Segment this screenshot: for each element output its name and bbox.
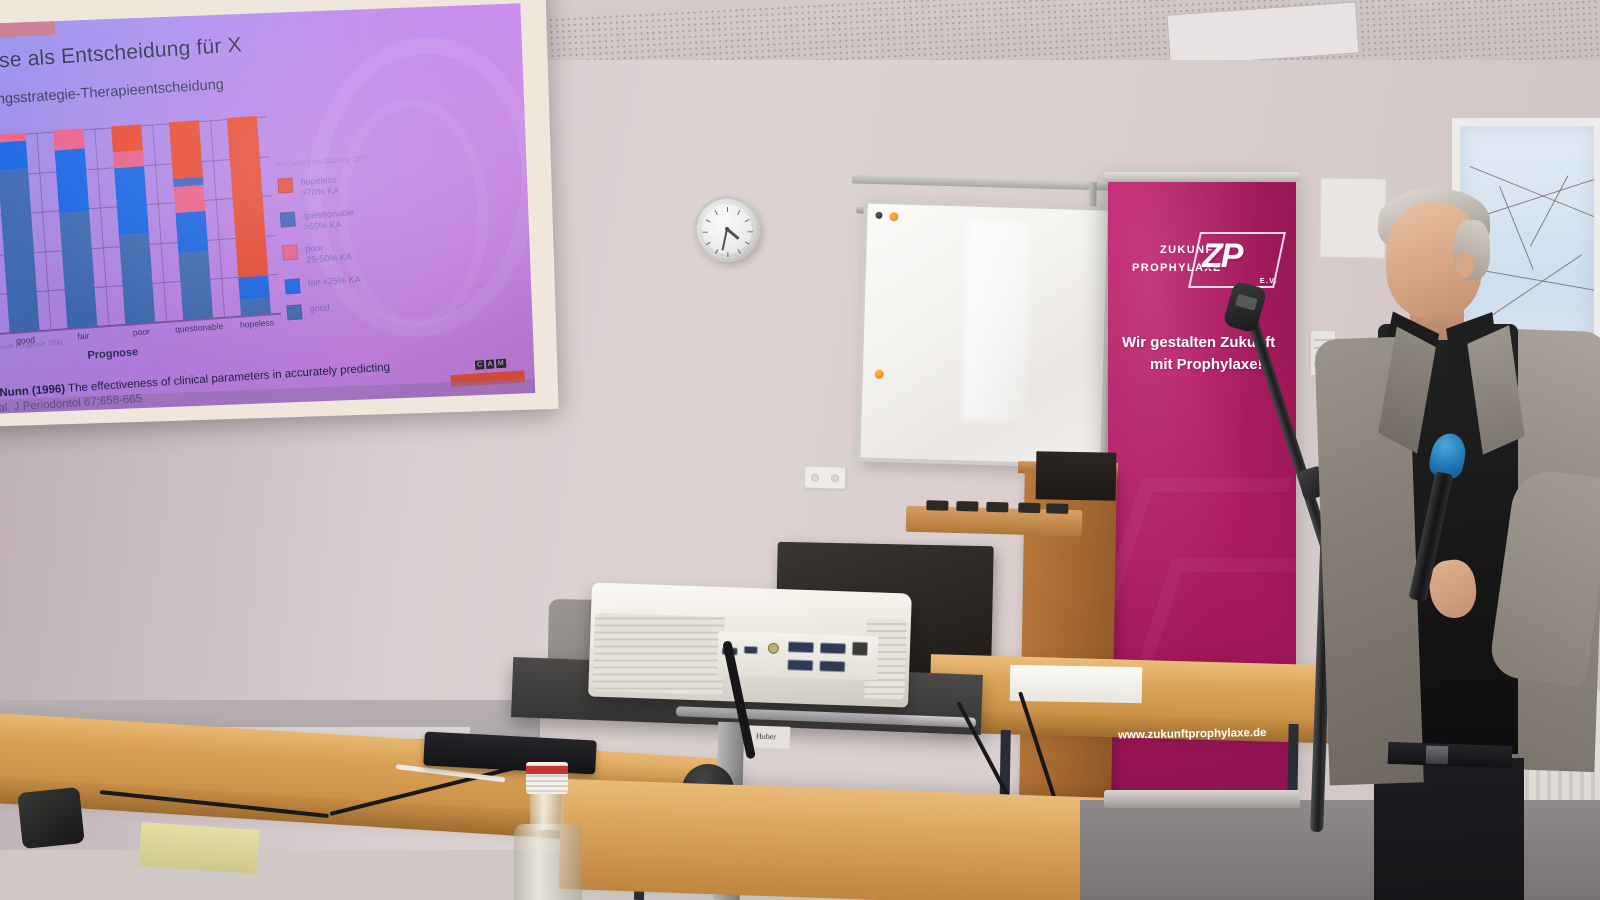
slide-logo-letter: A <box>486 359 495 369</box>
clock-tick <box>703 231 708 232</box>
chart-bar-segment <box>227 116 268 278</box>
usb-port[interactable] <box>744 646 758 654</box>
clock-tick <box>715 210 719 215</box>
wall-clock <box>694 196 760 262</box>
slide-logo-letter: M <box>496 359 506 369</box>
marker-pen[interactable] <box>956 501 978 512</box>
chart-bar-segment <box>179 251 214 320</box>
vga-out-port[interactable] <box>820 642 846 654</box>
bottle-body <box>514 824 582 900</box>
projector-port-panel <box>717 631 878 681</box>
chart-bar: questionable <box>169 120 213 320</box>
belt <box>1388 742 1513 768</box>
clock-tick <box>748 231 753 232</box>
chart-source-note: McGuire Prognose 1991 <box>0 337 63 352</box>
legend-item: questionable>50% KA <box>280 204 401 235</box>
chart-xtick-label: fair <box>77 331 89 342</box>
chart-xtick-label: hopeless <box>240 317 275 329</box>
chart-bar-segment <box>55 148 89 213</box>
chart-bar-segment <box>0 168 40 332</box>
legend-label: fair <25% KA <box>307 274 360 289</box>
chart-plot-area: 100%80%60%40%20%0%goodfairpoorquestionab… <box>0 116 281 334</box>
glass-bottle <box>512 762 584 900</box>
legend-item: good <box>286 296 407 320</box>
legend-item: hopeless>70% KA <box>277 170 398 201</box>
rj45-port[interactable] <box>852 642 868 657</box>
outlet-socket <box>811 473 819 481</box>
clock-tick <box>737 249 741 254</box>
vga-in-port[interactable] <box>788 641 814 653</box>
chart-bar-segment <box>112 124 144 152</box>
lecture-room-photo: Prognose als Entscheidung für X Behandlu… <box>0 0 1600 900</box>
legend-label-line1: good <box>309 302 330 315</box>
chart-column-separator <box>94 129 109 326</box>
clock-center-pin <box>725 227 729 231</box>
clock-tick <box>745 219 750 223</box>
presenter <box>1326 186 1600 900</box>
clock-tick <box>745 241 750 245</box>
whiteboard <box>856 199 1112 468</box>
svideo-port[interactable] <box>768 643 779 654</box>
projection-screen: Prognose als Entscheidung für X Behandlu… <box>0 3 535 414</box>
slide-accent-bar <box>0 19 55 40</box>
chart-bar-segment <box>169 120 203 179</box>
rs232-port[interactable] <box>787 659 813 671</box>
banner-base-foot <box>1104 790 1300 808</box>
slide-logo: CAM <box>475 359 506 370</box>
legend-swatch <box>285 278 301 294</box>
clock-tick <box>737 210 741 215</box>
legend-item: fair <25% KA <box>285 270 406 294</box>
clock-tick <box>727 207 728 212</box>
legend-label: hopeless>70% KA <box>300 174 339 199</box>
legend-label: good <box>309 302 330 315</box>
clip-jaw <box>1235 294 1258 311</box>
note-paper <box>139 822 260 874</box>
chart-legend: McGuire Einschätzung 1991 hopeless>70% K… <box>276 151 408 331</box>
marker-pen[interactable] <box>986 502 1008 513</box>
chart-bar: good <box>0 133 40 333</box>
marker-pen[interactable] <box>926 500 948 511</box>
chart-xtick-label: poor <box>132 326 150 337</box>
clock-tick <box>706 219 711 223</box>
chart-bar-segment <box>0 140 28 170</box>
chart-bar: poor <box>112 124 156 324</box>
chart-bar: hopeless <box>227 116 271 316</box>
banner-top-rail <box>1104 172 1300 182</box>
chart-xaxis-title: Prognose <box>87 346 138 362</box>
legend-swatch <box>280 211 296 227</box>
chart-bar-segment <box>239 276 270 300</box>
banner-monogram-mark: ZP E.V. <box>1194 232 1280 288</box>
legend-label: poor25-50% KA <box>305 241 352 267</box>
outlet-socket <box>831 474 839 482</box>
legend-swatch <box>282 244 298 260</box>
banner-brand-suffix: E.V. <box>1260 278 1278 285</box>
legend-label-line1: fair <25% KA <box>307 274 360 289</box>
chart-bar: fair <box>54 128 98 328</box>
chart-bar-segment <box>174 185 206 213</box>
clock-tick <box>706 241 711 245</box>
power-outlet[interactable] <box>804 465 847 489</box>
whiteboard-magnet-orange <box>875 370 884 379</box>
marker-pen[interactable] <box>1018 503 1040 514</box>
whiteboard-glare <box>962 222 1030 422</box>
chart-column-separator <box>152 124 167 321</box>
chart-column-separator <box>36 133 51 330</box>
chart-bar-segment <box>176 211 209 253</box>
projector-vent-left <box>592 613 725 695</box>
clock-tick <box>715 249 719 254</box>
monogram-text: ZP <box>1202 239 1241 273</box>
marker-tray <box>906 506 1083 537</box>
marker-pen[interactable] <box>1046 503 1068 514</box>
chart-bar-segment <box>119 233 155 324</box>
chart-bar-segment <box>240 298 271 316</box>
whiteboard-magnet-dark <box>875 212 882 219</box>
dark-cabinet-top <box>1036 451 1117 500</box>
clock-tick <box>727 252 728 257</box>
serial-port[interactable] <box>819 660 845 672</box>
whiteboard-magnet-orange <box>889 212 898 221</box>
dlp-projector <box>588 582 912 707</box>
bottle-cap-stripe <box>526 766 568 774</box>
legend-label-line2: 25-50% KA <box>306 252 352 266</box>
bottle-neck <box>530 788 564 830</box>
belt-buckle <box>1426 746 1449 765</box>
slide-chart: 100%80%60%40%20%0%goodfairpoorquestionab… <box>0 104 337 362</box>
legend-label: questionable>50% KA <box>303 207 356 233</box>
legend-item: poor25-50% KA <box>282 237 403 268</box>
legend-swatch <box>286 304 302 320</box>
legend-swatch <box>277 178 293 194</box>
chart-xtick-label: questionable <box>175 321 224 334</box>
chart-bar-segment <box>54 128 85 150</box>
ear <box>1456 252 1474 278</box>
slide-logo-letter: C <box>475 360 485 370</box>
chart-column-separator <box>210 120 225 317</box>
legend-label-line2: >70% KA <box>301 186 339 200</box>
chart-bar-segment <box>115 166 150 235</box>
banner-chevron-graphic <box>1108 478 1292 628</box>
paper-sheet <box>1010 665 1143 703</box>
power-adapter <box>17 787 85 849</box>
chart-bar-segment <box>60 211 98 328</box>
